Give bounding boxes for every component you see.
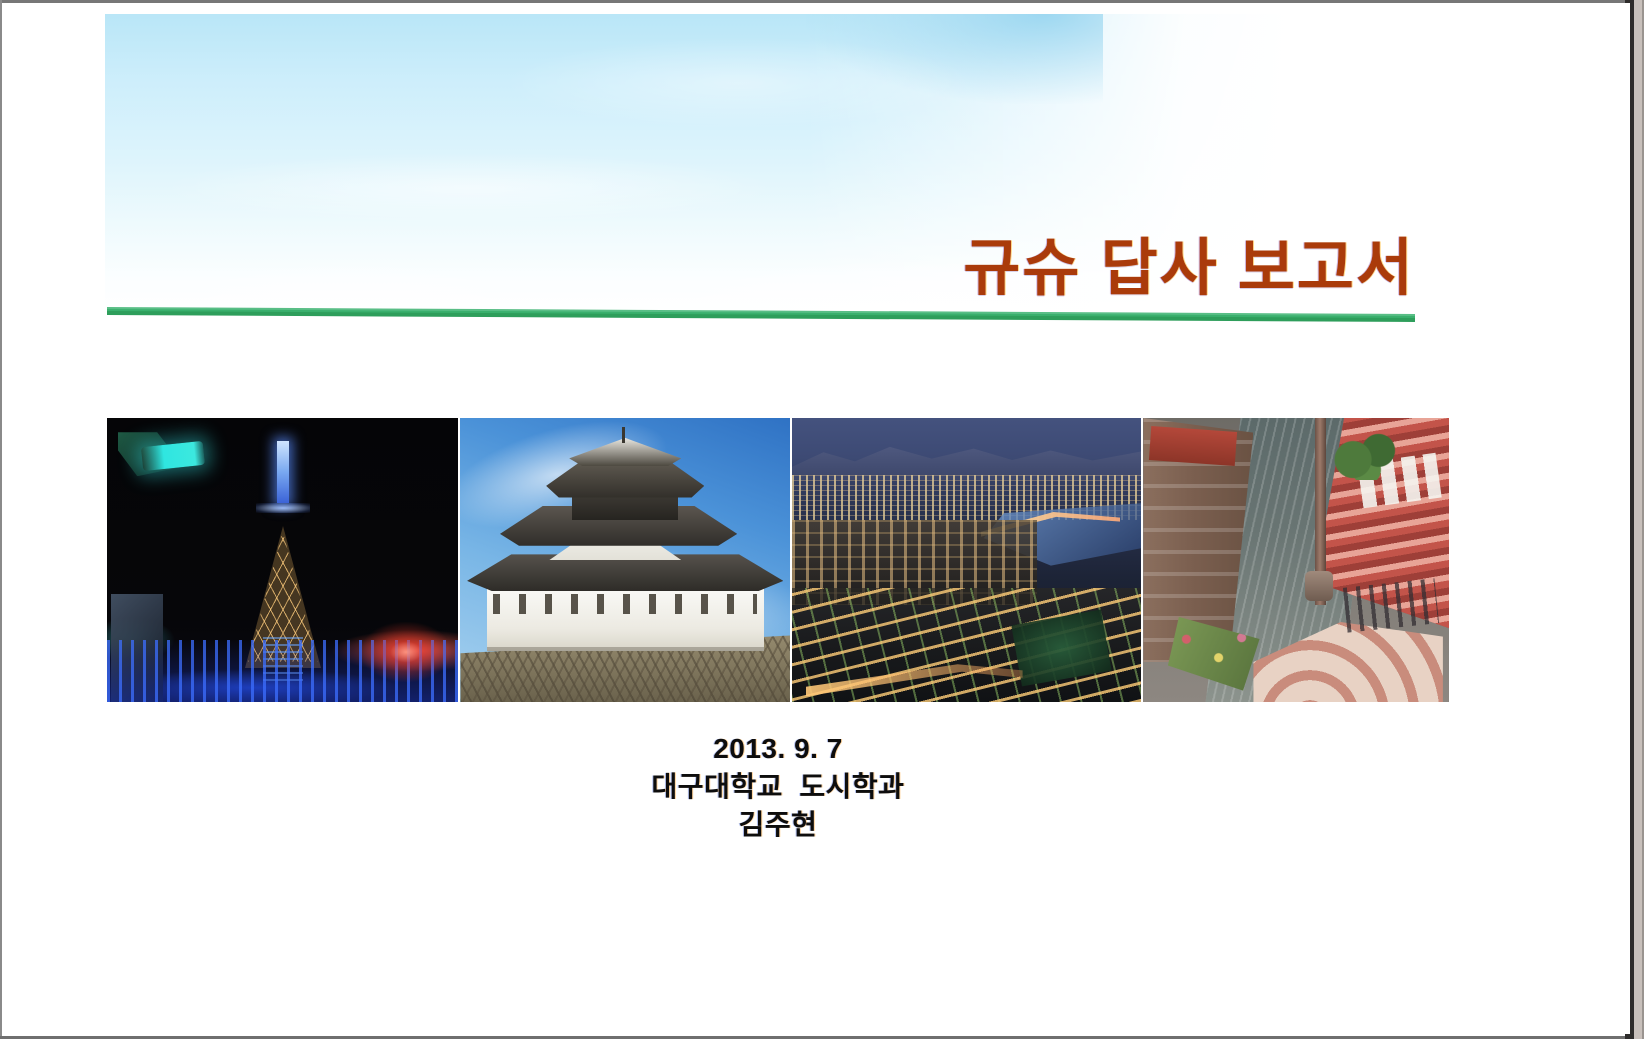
castle-window-row <box>493 594 757 614</box>
sky-cloud-upper <box>509 38 967 128</box>
photo-fukuoka-tower-night <box>107 418 458 702</box>
caption-author: 김주현 <box>107 806 1449 844</box>
slide-canvas: 규슈 답사 보고서 <box>3 3 1630 1034</box>
photo-city-night-aerial <box>792 418 1141 702</box>
green-divider-rule <box>107 299 1415 325</box>
castle-finial <box>622 427 625 443</box>
red-light-flare <box>361 622 451 682</box>
planter-trees <box>1333 429 1400 480</box>
slide-page: 규슈 답사 보고서 <box>0 0 1644 1039</box>
left-red-awning <box>1148 426 1236 466</box>
caption-affiliation: 대구대학교 도시학과 <box>107 768 1449 806</box>
tower-spire <box>277 441 289 503</box>
green-rule-svg <box>107 299 1415 325</box>
viewer-frame-left <box>0 0 2 1039</box>
sky-cloud-lower <box>159 152 779 224</box>
title-caption-block: 2013. 9. 7 대구대학교 도시학과 김주현 <box>107 730 1449 844</box>
tower-observation-deck <box>256 503 310 513</box>
photo-canal-city-hakata <box>1143 418 1449 702</box>
mast-pole-base <box>1305 571 1333 601</box>
caption-date: 2013. 9. 7 <box>107 730 1449 768</box>
photo-kokura-castle <box>460 418 790 702</box>
viewer-frame-right-edge <box>1634 0 1642 1039</box>
crowd-of-people <box>1343 578 1439 633</box>
page-title: 규슈 답사 보고서 <box>703 217 1415 307</box>
photo-strip <box>107 418 1449 702</box>
